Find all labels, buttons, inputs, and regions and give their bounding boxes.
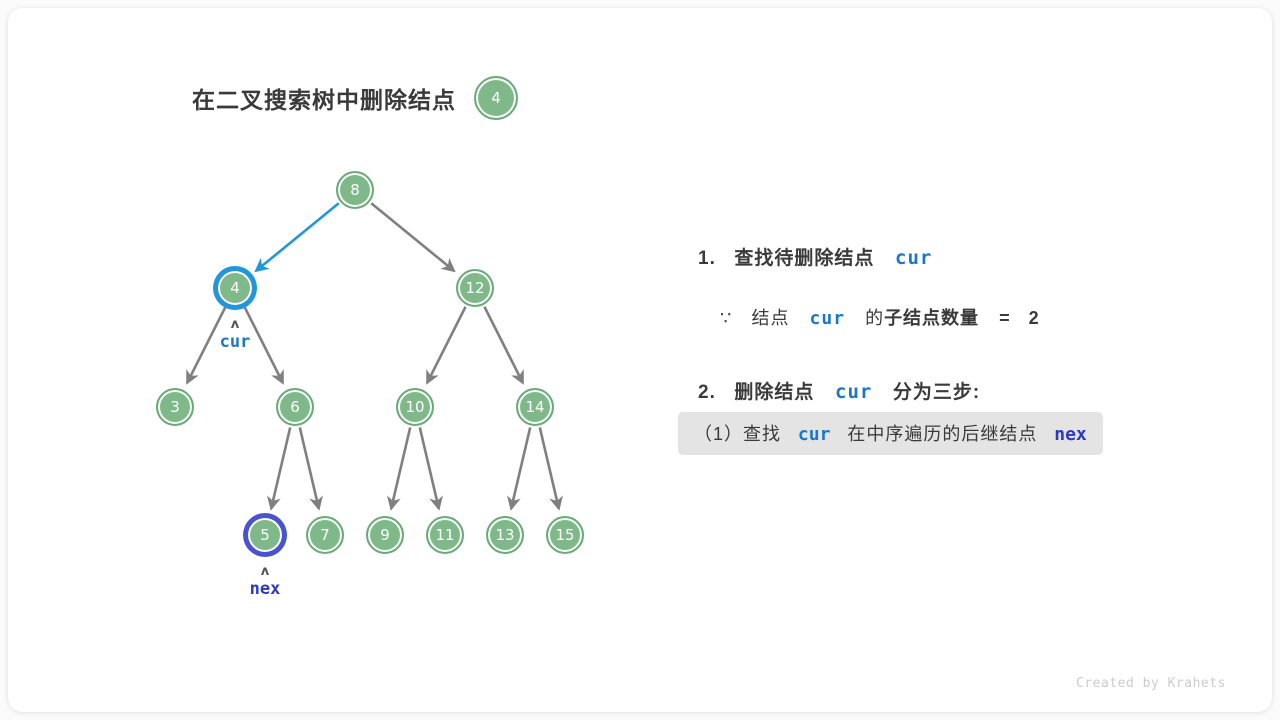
tree-node-8: 8 — [336, 171, 374, 209]
slide-card: 在二叉搜索树中删除结点 4 8412361014579111315 ʌcurʌn… — [8, 8, 1272, 712]
tree-node-4: 4 — [216, 269, 254, 307]
reason-text-b: 的 — [865, 308, 884, 328]
caret-icon: ʌ — [250, 565, 281, 578]
reason-var-cur: cur — [810, 308, 846, 329]
reason-equals: = — [999, 308, 1011, 328]
step-2-index: 2. — [698, 382, 716, 403]
tree-edge-8-4 — [256, 203, 339, 271]
substep-index: （1） — [694, 424, 743, 444]
reason-text-a: 结点 — [751, 308, 789, 328]
step-1-text: 查找待删除结点 — [734, 248, 874, 269]
tree-node-6: 6 — [276, 388, 314, 426]
caret-icon: ʌ — [220, 318, 251, 331]
tree-node-7: 7 — [306, 516, 344, 554]
tree-node-13: 13 — [486, 516, 524, 554]
reason-value: 2 — [1029, 308, 1040, 328]
because-symbol: ∵ — [720, 308, 732, 328]
step-2-var-cur: cur — [835, 381, 872, 403]
step-2-text-b: 分为三步: — [893, 382, 980, 403]
step-1-line: 1. 查找待删除结点 cur — [698, 243, 932, 270]
substep-text-a: 查找 — [743, 424, 781, 444]
tree-edge-8-12 — [371, 203, 454, 271]
pointer-label-cur: cur — [220, 332, 251, 352]
tree-edge-10-11 — [420, 427, 439, 508]
tree-node-5: 5 — [246, 516, 284, 554]
step-2-line: 2. 删除结点 cur 分为三步: — [698, 377, 980, 404]
reason-line: ∵ 结点 cur 的子结点数量 = 2 — [720, 304, 1040, 330]
reason-text-c: 子结点数量 — [884, 308, 979, 328]
tree-edge-12-14 — [484, 307, 522, 383]
substep-var-cur: cur — [798, 424, 831, 445]
tree-edge-10-9 — [391, 427, 410, 508]
tree-edge-14-15 — [540, 427, 559, 508]
tree-edges — [8, 8, 700, 712]
tree-node-15: 15 — [546, 516, 584, 554]
tree-edge-12-10 — [427, 307, 465, 383]
tree-node-10: 10 — [396, 388, 434, 426]
substep-highlight-box: （1）查找 cur 在中序遍历的后继结点 nex — [678, 412, 1103, 455]
step-2-text-a: 删除结点 — [734, 382, 814, 403]
step-1-var-cur: cur — [895, 247, 932, 269]
binary-search-tree: 8412361014579111315 ʌcurʌnex — [8, 8, 700, 712]
tree-node-11: 11 — [426, 516, 464, 554]
substep-text-b: 在中序遍历的后继结点 — [847, 424, 1037, 444]
tree-node-9: 9 — [366, 516, 404, 554]
tree-node-3: 3 — [156, 388, 194, 426]
step-1-index: 1. — [698, 248, 716, 269]
pointer-cur: ʌcur — [220, 318, 251, 351]
tree-node-14: 14 — [516, 388, 554, 426]
slide-stage: 在二叉搜索树中删除结点 4 8412361014579111315 ʌcurʌn… — [8, 8, 1272, 712]
tree-edge-6-5 — [271, 427, 290, 508]
pointer-nex: ʌnex — [250, 565, 281, 598]
substep-var-nex: nex — [1054, 424, 1087, 445]
tree-edge-6-7 — [300, 427, 319, 508]
footer-credit: Created by Krahets — [1076, 676, 1226, 691]
tree-edge-14-13 — [511, 427, 530, 508]
tree-node-12: 12 — [456, 269, 494, 307]
pointer-label-nex: nex — [250, 579, 281, 599]
